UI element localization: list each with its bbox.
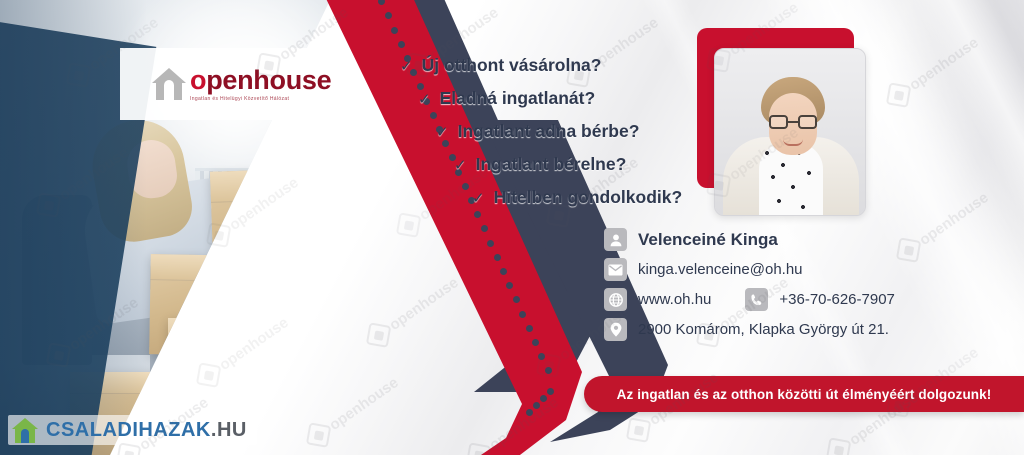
dot <box>378 0 385 5</box>
contact-row-email: kinga.velenceine@oh.hu <box>604 258 895 281</box>
checklist-item: ✓ Ingatlant bérelne? <box>454 154 730 175</box>
logo-word-rest: penhouse <box>206 65 331 95</box>
dot <box>538 353 545 360</box>
check-icon: ✓ <box>472 189 485 207</box>
phone-icon <box>745 288 768 311</box>
agent-phone[interactable]: +36-70-626-7907 <box>779 291 895 308</box>
check-icon: ✓ <box>436 123 449 141</box>
dot <box>526 409 533 416</box>
tagline-banner: Az ingatlan és az otthon közötti út élmé… <box>584 376 1024 412</box>
checklist-label: Hitelben gondolkodik? <box>494 187 683 208</box>
dot <box>391 27 398 34</box>
contact-row-address: 2900 Komárom, Klapka György út 21. <box>604 318 895 341</box>
agent-name: Velenceiné Kinga <box>638 230 778 250</box>
csaladihazak-label: CSALADIHAZAK.HU <box>46 419 247 442</box>
check-icon: ✓ <box>454 156 467 174</box>
logo-wordmark: openhouse <box>190 67 331 94</box>
glasses-icon <box>769 115 817 129</box>
globe-icon <box>604 288 627 311</box>
advertisement-banner: openhouse Ingatlan és Hitelügyi Közvetít… <box>0 0 1024 455</box>
house-icon <box>152 68 186 100</box>
dot <box>481 225 488 232</box>
check-icon: ✓ <box>418 90 431 108</box>
agent-website[interactable]: www.oh.hu <box>638 291 711 308</box>
site-name: CSALADIHAZAK <box>46 419 211 441</box>
services-checklist: ✓ Új otthont vásárolna? ✓ Eladná ingatla… <box>400 55 730 220</box>
logo-subtitle: Ingatlan és Hitelügyi Közvetítő Hálózat <box>190 97 331 102</box>
contact-row-name: Velenceiné Kinga <box>604 228 895 251</box>
dot <box>545 367 552 374</box>
checklist-item: ✓ Új otthont vásárolna? <box>400 55 730 76</box>
agent-address: 2900 Komárom, Klapka György út 21. <box>638 321 889 338</box>
contact-row-web-phone: www.oh.hu +36-70-626-7907 <box>604 288 895 311</box>
dot <box>398 41 405 48</box>
dot <box>540 395 547 402</box>
person-icon <box>604 228 627 251</box>
location-pin-icon <box>604 318 627 341</box>
check-icon: ✓ <box>400 57 413 75</box>
dot <box>500 268 507 275</box>
agent-email[interactable]: kinga.velenceine@oh.hu <box>638 261 803 278</box>
openhouse-logo: openhouse Ingatlan és Hitelügyi Közvetít… <box>120 48 338 120</box>
checklist-item: ✓ Eladná ingatlanát? <box>418 88 730 109</box>
logo-word-first: o <box>190 65 206 95</box>
envelope-icon <box>604 258 627 281</box>
dot <box>487 240 494 247</box>
tagline-text: Az ingatlan és az otthon közötti út élmé… <box>617 387 992 402</box>
site-tld: .HU <box>211 419 247 441</box>
checklist-item: ✓ Ingatlant adna bérbe? <box>436 121 730 142</box>
dot <box>532 339 539 346</box>
contact-block: Velenceiné Kinga kinga.velenceine@oh.hu … <box>604 228 895 348</box>
checklist-label: Eladná ingatlanát? <box>440 88 596 109</box>
dot <box>494 254 501 261</box>
checklist-label: Ingatlant bérelne? <box>476 154 627 175</box>
dot <box>506 282 513 289</box>
dot <box>513 296 520 303</box>
dot <box>547 388 554 395</box>
dot <box>533 402 540 409</box>
dot <box>519 311 526 318</box>
checklist-label: Új otthont vásárolna? <box>422 55 602 76</box>
house-icon <box>12 417 38 443</box>
agent-portrait <box>714 48 866 216</box>
checklist-label: Ingatlant adna bérbe? <box>458 121 640 142</box>
dot <box>385 12 392 19</box>
checklist-item: ✓ Hitelben gondolkodik? <box>472 187 730 208</box>
dot <box>526 325 533 332</box>
csaladihazak-watermark: CSALADIHAZAK.HU <box>8 415 257 445</box>
